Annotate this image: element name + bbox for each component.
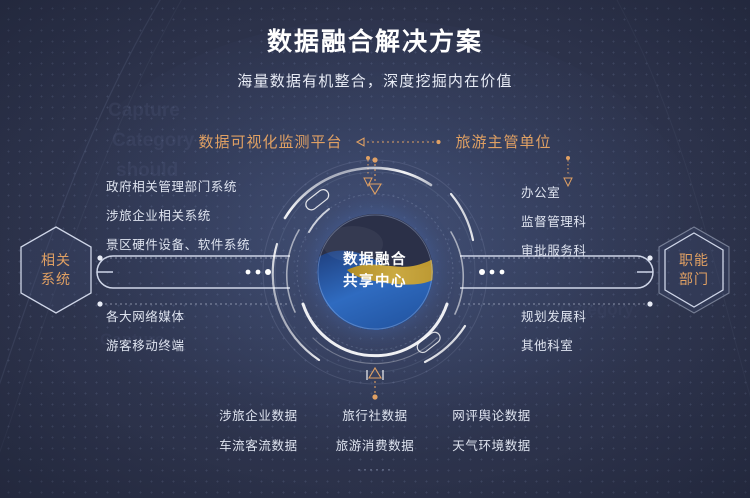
list-item[interactable]: 天气环境数据 (452, 435, 531, 454)
list-item[interactable]: 各大网络媒体 (106, 306, 185, 325)
left-hex-line1: 相关 (41, 251, 71, 270)
page-subtitle: 海量数据有机整合，深度挖掘内在价值 (0, 70, 750, 91)
right-hex-line2: 部门 (679, 270, 709, 289)
bottom-column-2: 旅行社数据 旅游消费数据 (336, 405, 415, 454)
right-hexagon-node[interactable]: 职能 部门 (654, 224, 734, 316)
visualization-platform-label[interactable]: 数据可视化监测平台 (199, 134, 343, 151)
dotted-arrow-icon (355, 135, 443, 147)
left-hexagon-label: 相关 系统 (16, 224, 96, 316)
list-item[interactable]: 审批服务科 (521, 240, 587, 259)
left-hexagon-node[interactable]: 相关 系统 (16, 224, 96, 316)
list-item[interactable]: 景区硬件设备、软件系统 (106, 234, 250, 253)
right-hexagon-label: 职能 部门 (654, 224, 734, 316)
right-bottom-department-list: 规划发展科 其他科室 (521, 306, 587, 364)
left-bottom-source-list: 各大网络媒体 游客移动终端 (106, 306, 185, 364)
top-label-row: 数据可视化监测平台 旅游主管单位 (0, 131, 750, 152)
list-item[interactable]: 政府相关管理部门系统 (106, 176, 250, 195)
left-top-source-list: 政府相关管理部门系统 涉旅企业相关系统 景区硬件设备、软件系统 (106, 176, 250, 263)
center-line2: 共享中心 (343, 272, 407, 294)
list-item[interactable]: 车流客流数据 (219, 435, 298, 454)
list-item[interactable]: 旅游消费数据 (336, 435, 415, 454)
bottom-data-grid: 涉旅企业数据 车流客流数据 旅行社数据 旅游消费数据 网评舆论数据 天气环境数据 (0, 405, 750, 454)
list-item[interactable]: 监督管理科 (521, 211, 587, 230)
bottom-ellipsis: ······ (0, 462, 750, 476)
list-item[interactable]: 其他科室 (521, 335, 587, 354)
infographic-canvas: Capture Category should Capture Category… (0, 0, 750, 498)
bottom-column-3: 网评舆论数据 天气环境数据 (452, 405, 531, 454)
list-item[interactable]: 网评舆论数据 (452, 405, 531, 424)
page-title: 数据融合解决方案 (0, 22, 750, 58)
bottom-column-1: 涉旅企业数据 车流客流数据 (219, 405, 298, 454)
list-item[interactable]: 游客移动终端 (106, 335, 185, 354)
tourism-authority-label[interactable]: 旅游主管单位 (455, 134, 551, 151)
right-hex-line1: 职能 (679, 251, 709, 270)
list-item[interactable]: 涉旅企业数据 (219, 405, 298, 424)
list-item[interactable]: 旅行社数据 (342, 405, 408, 424)
list-item[interactable]: 涉旅企业相关系统 (106, 205, 250, 224)
center-line1: 数据融合 (343, 250, 407, 272)
list-item[interactable]: 规划发展科 (521, 306, 587, 325)
watermark-text: Capture (108, 100, 180, 122)
data-hub-center[interactable]: 数据融合 共享中心 (255, 152, 495, 392)
data-hub-label: 数据融合 共享中心 (317, 214, 433, 330)
right-top-department-list: 办公室 监督管理科 审批服务科 (521, 182, 587, 269)
list-item[interactable]: 办公室 (521, 182, 587, 201)
left-hex-line2: 系统 (41, 270, 71, 289)
